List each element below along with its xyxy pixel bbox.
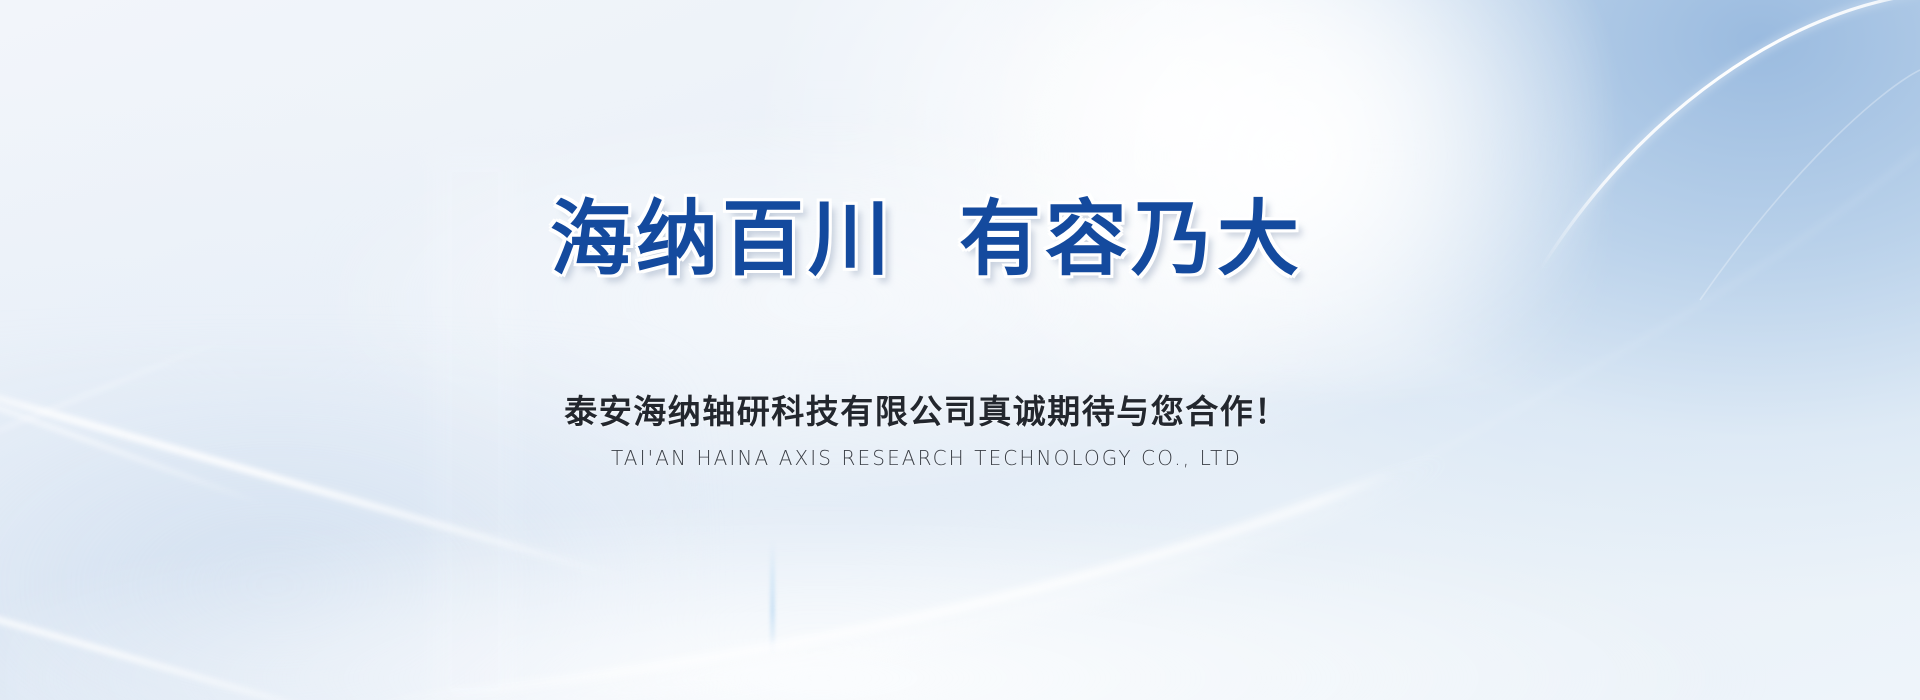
hero-banner: 海纳百川 有容乃大 泰安海纳轴研科技有限公司真诚期待与您合作！ TAI'AN H… [0, 0, 1920, 700]
banner-headline: 海纳百川 有容乃大 [0, 197, 1853, 284]
banner-subtitle-chinese: 泰安海纳轴研科技有限公司真诚期待与您合作！ [0, 385, 1853, 433]
banner-content: 海纳百川 有容乃大 泰安海纳轴研科技有限公司真诚期待与您合作！ TAI'AN H… [0, 0, 1920, 700]
banner-subtitle-english: TAI'AN HAINA AXIS RESEARCH TECHNOLOGY CO… [0, 446, 1853, 470]
